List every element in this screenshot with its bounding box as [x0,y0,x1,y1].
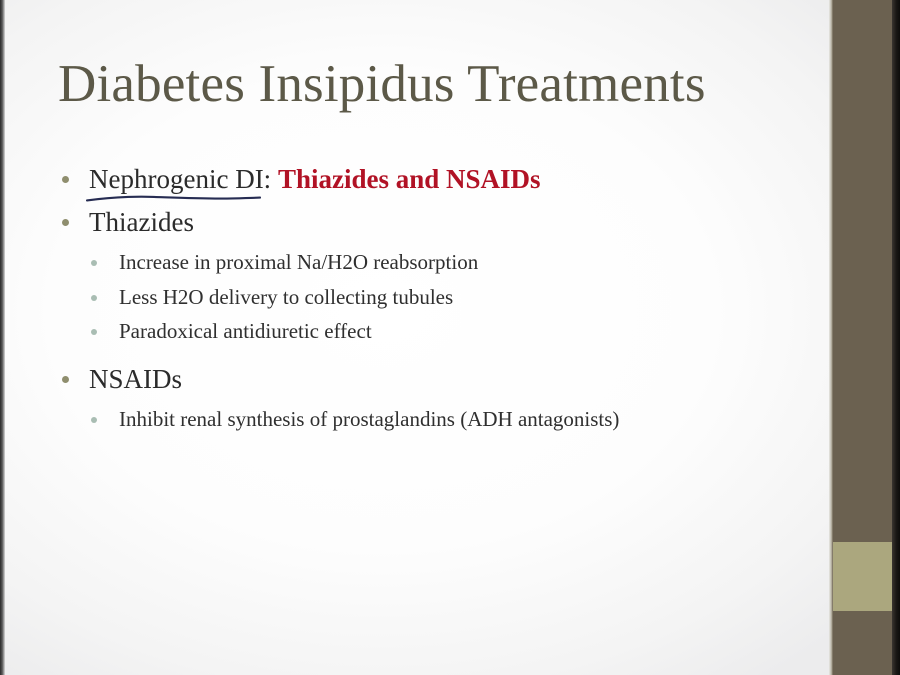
slide-body-list: Nephrogenic DI: Thiazides and NSAIDs Thi… [56,160,816,439]
list-item-label: Paradoxical antidiuretic effect [119,319,372,343]
olive-dot-bullet-icon [62,376,69,383]
list-item-label: NSAIDs [89,364,182,394]
list-item: Inhibit renal synthesis of prostaglandin… [56,404,816,436]
decorative-sidebar-accent-block [833,542,892,611]
list-item: Increase in proximal Na/H2O reabsorption [56,247,816,279]
sage-dot-bullet-icon [91,329,97,335]
olive-dot-bullet-icon [62,219,69,226]
olive-dot-bullet-icon [62,176,69,183]
list-group-spacer [56,351,816,360]
list-item-label: Inhibit renal synthesis of prostaglandin… [119,407,619,431]
slide-canvas-root: Diabetes Insipidus Treatments Nephrogeni… [0,0,900,675]
list-item-label: Thiazides [89,207,194,237]
list-item-emphasis: Thiazides and NSAIDs [278,164,541,194]
sage-dot-bullet-icon [91,295,97,301]
sage-dot-bullet-icon [91,417,97,423]
frame-left-edge [0,0,5,675]
list-item: Thiazides [56,203,816,241]
list-item: Less H2O delivery to collecting tubules [56,282,816,314]
list-item: Paradoxical antidiuretic effect [56,316,816,348]
list-item: Nephrogenic DI: Thiazides and NSAIDs [56,160,816,198]
list-item-label: Increase in proximal Na/H2O reabsorption [119,250,478,274]
list-item: NSAIDs [56,360,816,398]
list-item-label: Less H2O delivery to collecting tubules [119,285,453,309]
list-item-label: Nephrogenic DI: [89,164,278,194]
page-title: Diabetes Insipidus Treatments [58,55,798,114]
sage-dot-bullet-icon [91,260,97,266]
frame-right-edge [892,0,900,675]
